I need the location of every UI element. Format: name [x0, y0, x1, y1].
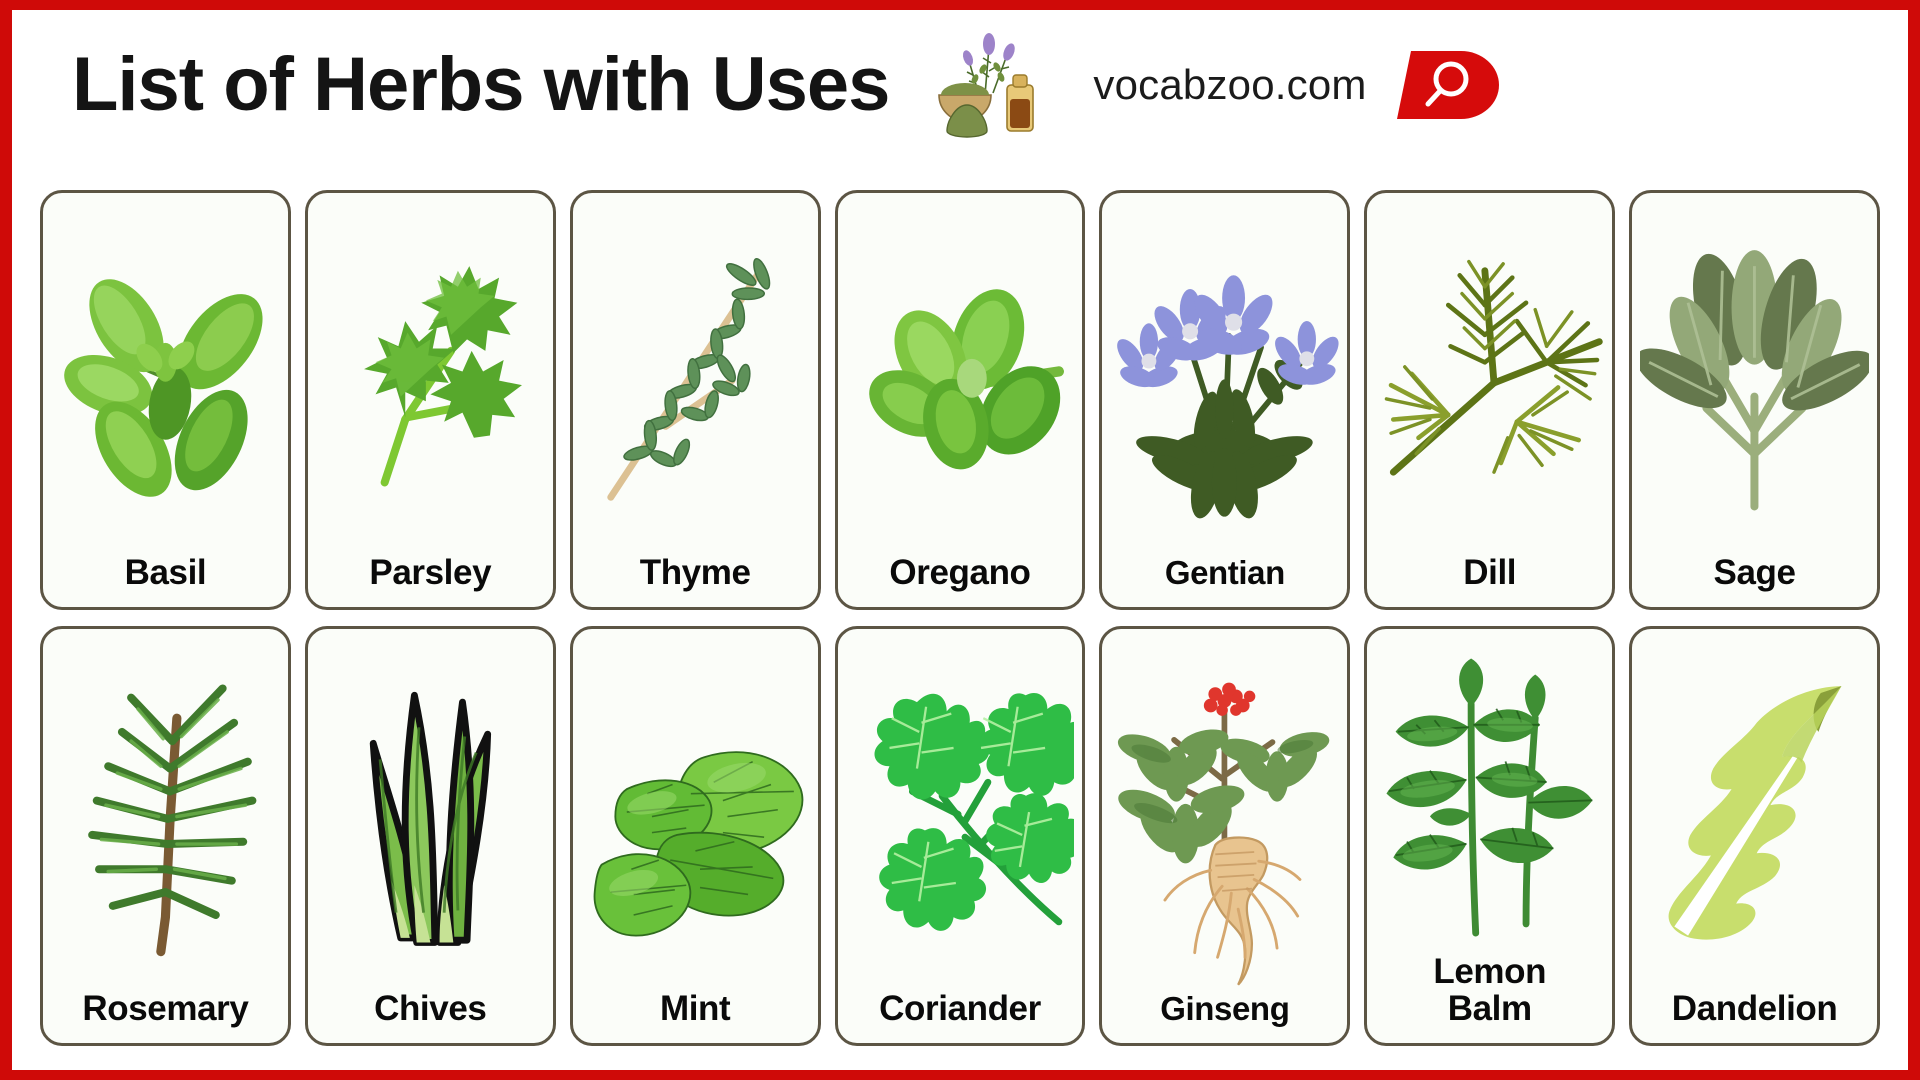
mint-leaves-icon [581, 641, 810, 990]
herb-card-grid: Basil [40, 190, 1880, 1046]
herb-card-lemon-balm[interactable]: Lemon Balm [1364, 626, 1615, 1046]
magnifier-badge-icon[interactable] [1395, 43, 1503, 127]
site-name: vocabzoo.com [1093, 61, 1366, 109]
oregano-leaves-icon [846, 205, 1075, 554]
herb-label: Basil [125, 554, 207, 597]
herb-card-dill[interactable]: Dill [1364, 190, 1615, 610]
herb-label: Parsley [369, 554, 491, 597]
dill-frond-icon [1375, 205, 1604, 554]
herb-bowl-and-oil-bottle-icon [923, 25, 1053, 145]
herb-card-thyme[interactable]: Thyme [570, 190, 821, 610]
parsley-sprig-icon [316, 205, 545, 554]
herb-label: Coriander [879, 990, 1041, 1033]
coriander-leaf-icon [846, 641, 1075, 990]
herb-card-sage[interactable]: Sage [1629, 190, 1880, 610]
page-title: List of Herbs with Uses [72, 47, 889, 123]
herb-label: Mint [660, 990, 730, 1033]
herb-card-coriander[interactable]: Coriander [835, 626, 1086, 1046]
herb-card-basil[interactable]: Basil [40, 190, 291, 610]
herb-card-ginseng[interactable]: Ginseng [1099, 626, 1350, 1046]
sage-leaves-icon [1640, 205, 1869, 554]
herb-card-rosemary[interactable]: Rosemary [40, 626, 291, 1046]
herb-card-dandelion[interactable]: Dandelion [1629, 626, 1880, 1046]
herb-label: Dill [1463, 554, 1516, 597]
herb-card-oregano[interactable]: Oregano [835, 190, 1086, 610]
herb-card-mint[interactable]: Mint [570, 626, 821, 1046]
rosemary-sprig-icon [51, 641, 280, 990]
herb-label: Rosemary [82, 990, 248, 1033]
thyme-sprig-icon [581, 205, 810, 554]
herb-label: Chives [374, 990, 486, 1033]
herb-card-chives[interactable]: Chives [305, 626, 556, 1046]
herb-label: Oregano [889, 554, 1030, 597]
ginseng-root-plant-icon [1110, 641, 1339, 992]
gentian-flowers-icon [1110, 205, 1339, 556]
herb-label: Sage [1714, 554, 1796, 597]
herb-label: Thyme [640, 554, 751, 597]
herb-label: Lemon Balm [1433, 953, 1546, 1033]
chives-blades-icon [316, 641, 545, 990]
herb-label: Ginseng [1160, 992, 1289, 1033]
herb-card-parsley[interactable]: Parsley [305, 190, 556, 610]
herb-label: Dandelion [1672, 990, 1838, 1033]
lemon-balm-sprig-icon [1375, 641, 1604, 953]
basil-leaves-icon [51, 205, 280, 554]
poster-page: List of Herbs with Uses [12, 10, 1908, 1070]
page-header: List of Herbs with Uses [12, 10, 1908, 160]
herb-card-gentian[interactable]: Gentian [1099, 190, 1350, 610]
herb-label: Gentian [1165, 556, 1285, 597]
dandelion-leaf-icon [1640, 641, 1869, 990]
